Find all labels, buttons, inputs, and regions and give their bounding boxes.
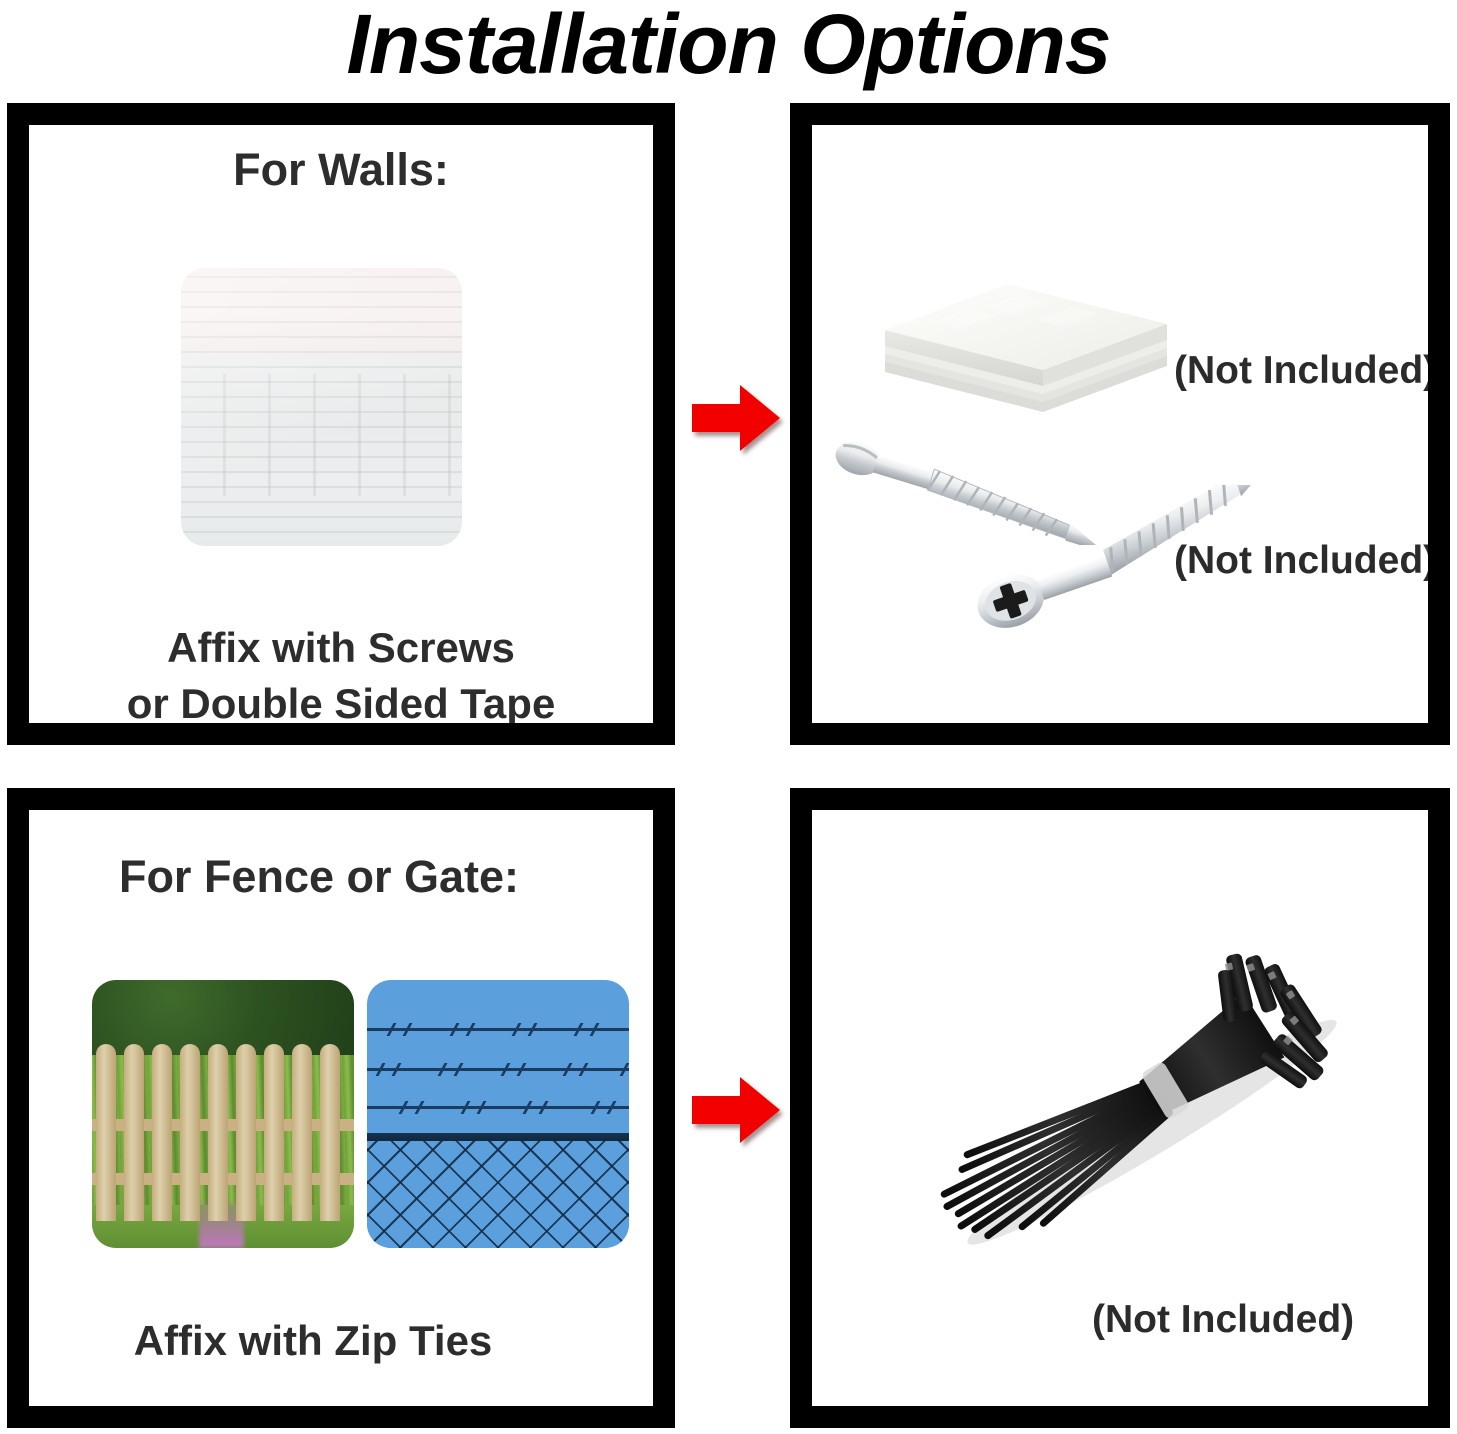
heading-for-walls: For Walls: [29,143,653,197]
picket-fence-thumbnail [92,980,354,1248]
chain-link-fence-thumbnail [367,980,629,1248]
fence-picket [152,1044,172,1221]
panel-zip-ties-content: (Not Included) [812,810,1428,1406]
fence-pickets-group [92,1044,354,1221]
heading-for-fence-or-gate: For Fence or Gate: [29,850,631,904]
barbed-wire-strand [367,1106,629,1109]
panel-for-walls-content: For Walls: Affix with Screws or Double S… [29,125,653,723]
panel-wall-hardware-content: (Not Included) [812,125,1428,723]
not-included-label-screws: (Not Included) [1174,539,1428,583]
chain-link-mesh [367,1141,629,1248]
fence-picket [96,1044,116,1221]
caption-affix-with-screws: Affix with Screws [29,620,653,676]
fence-picket [124,1044,144,1221]
double-sided-tape-stack-image [867,230,1187,430]
barbed-wire-strand [367,1068,629,1071]
barbed-wire-strand [367,1028,629,1031]
right-arrow-icon [690,381,782,455]
zip-tie-bundle-image [857,910,1397,1310]
fence-picket [292,1044,312,1221]
panel-zip-ties: (Not Included) [790,788,1450,1428]
page-title: Installation Options [0,0,1457,92]
fence-picket [236,1044,256,1221]
brick-sheen-overlay [181,268,462,546]
wall-thumbnail-image [181,268,462,546]
caption-double-sided-tape: or Double Sided Tape [29,676,653,723]
caption-affix-with-zip-ties: Affix with Zip Ties [29,1313,625,1369]
panel-for-fence-content: For Fence or Gate: [29,810,653,1406]
fence-picket [320,1044,340,1221]
panel-for-walls: For Walls: Affix with Screws or Double S… [7,103,675,745]
fence-picket [180,1044,200,1221]
panel-for-fence-or-gate: For Fence or Gate: [7,788,675,1428]
not-included-label-tape: (Not Included) [1174,349,1428,393]
fence-picket [264,1044,284,1221]
right-arrow-icon [690,1073,782,1147]
panel-wall-hardware: (Not Included) [790,103,1450,745]
fence-picket [208,1044,228,1221]
not-included-label-zip-ties: (Not Included) [1092,1298,1354,1342]
